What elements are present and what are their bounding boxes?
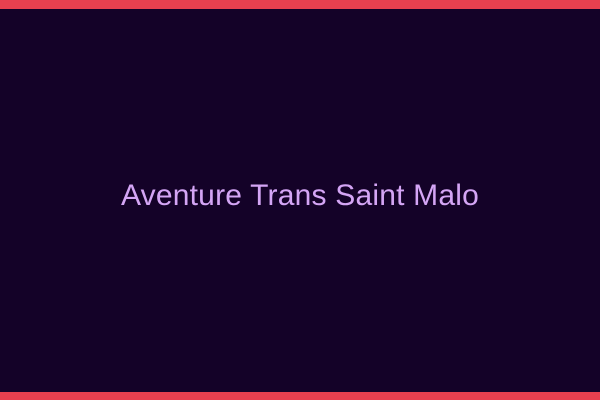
page-root: Aventure Trans Saint Malo (0, 0, 600, 400)
bottom-accent-bar (0, 392, 600, 400)
top-accent-bar (0, 0, 600, 9)
page-title: Aventure Trans Saint Malo (105, 179, 495, 214)
content-stage: Aventure Trans Saint Malo (0, 9, 600, 392)
